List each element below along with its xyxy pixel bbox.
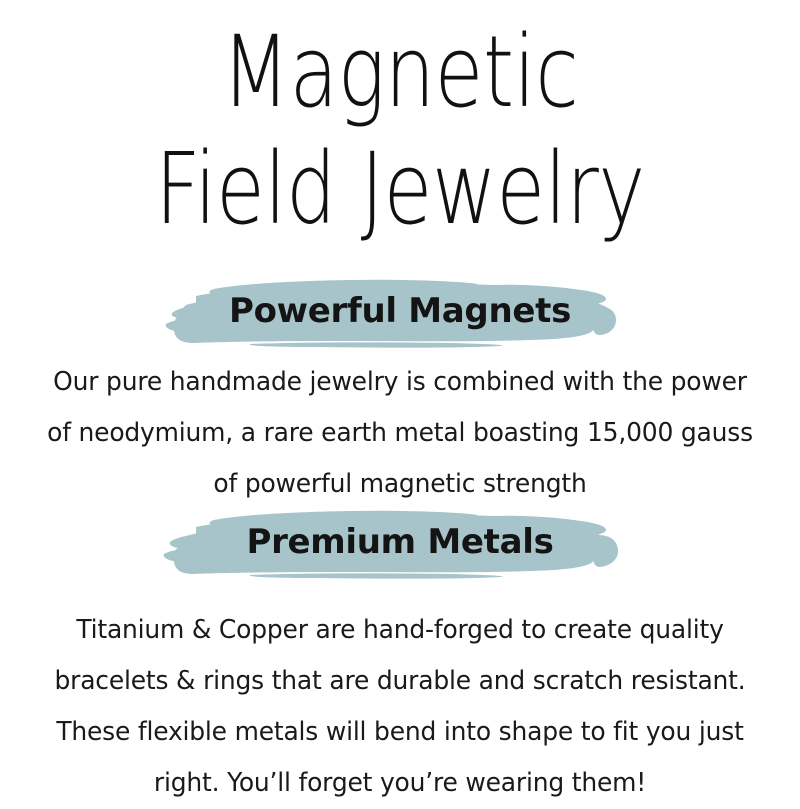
- section-heading-badge-premium-metals: Premium Metals: [0, 503, 800, 581]
- section-heading-label: Powerful Magnets: [0, 272, 800, 350]
- marketing-poster: Magnetic Field Jewelry Powerful Magnets …: [0, 0, 800, 800]
- body-line: right. You’ll forget you’re wearing them…: [16, 758, 784, 809]
- page-title-line-1: Magnetic: [80, 14, 720, 132]
- section-heading-badge-powerful-magnets: Powerful Magnets: [0, 272, 800, 350]
- page-title-line-2: Field Jewelry: [80, 132, 720, 248]
- body-line: of neodymium, a rare earth metal boastin…: [16, 408, 784, 459]
- section-body-premium-metals: Titanium & Copper are hand-forged to cre…: [0, 605, 800, 809]
- body-line: Our pure handmade jewelry is combined wi…: [16, 357, 784, 408]
- body-line: These flexible metals will bend into sha…: [16, 707, 784, 758]
- section-body-powerful-magnets: Our pure handmade jewelry is combined wi…: [0, 357, 800, 510]
- body-line: Titanium & Copper are hand-forged to cre…: [16, 605, 784, 656]
- page-title: Magnetic Field Jewelry: [0, 14, 800, 248]
- section-heading-label: Premium Metals: [0, 503, 800, 581]
- body-line: bracelets & rings that are durable and s…: [16, 656, 784, 707]
